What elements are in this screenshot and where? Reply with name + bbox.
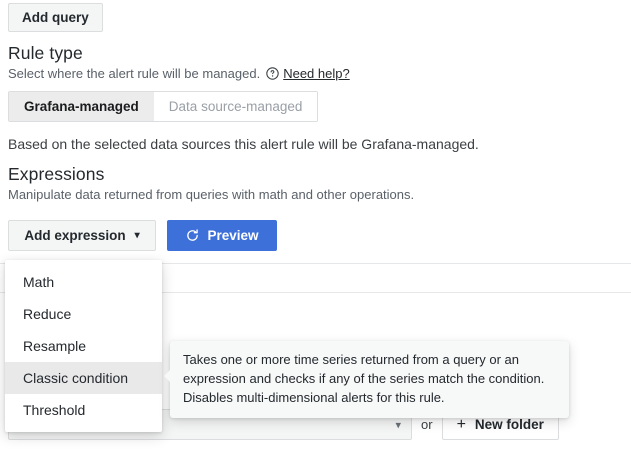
question-circle-icon (266, 67, 279, 80)
new-folder-label: New folder (475, 417, 544, 432)
menu-item-resample[interactable]: Resample (5, 330, 162, 362)
add-query-button[interactable]: Add query (8, 3, 103, 32)
rule-type-heading: Rule type (8, 43, 83, 64)
preview-label: Preview (207, 228, 258, 243)
need-help-link[interactable]: Need help? (266, 66, 350, 81)
rule-type-option-grafana-managed-label: Grafana-managed (24, 99, 139, 114)
rule-type-note: Based on the selected data sources this … (8, 136, 479, 152)
expressions-heading: Expressions (8, 164, 104, 185)
rule-type-option-data-source-managed-label: Data source-managed (169, 99, 303, 114)
menu-item-reduce[interactable]: Reduce (5, 298, 162, 330)
add-expression-button[interactable]: Add expression ▾ (8, 220, 156, 251)
tooltip-line-3: Disables multi-dimensional alerts for th… (183, 388, 556, 407)
rule-type-option-grafana-managed[interactable]: Grafana-managed (9, 92, 154, 121)
tooltip-arrow (164, 369, 171, 383)
add-expression-label: Add expression (24, 228, 125, 243)
menu-item-classic-condition-label: Classic condition (23, 370, 128, 386)
tooltip-line-1: Takes one or more time series returned f… (183, 350, 556, 369)
rule-type-option-data-source-managed[interactable]: Data source-managed (154, 92, 318, 121)
preview-button[interactable]: Preview (167, 220, 277, 251)
sync-refresh-icon (185, 228, 200, 243)
add-expression-menu[interactable]: Math Reduce Resample Classic condition T… (5, 260, 162, 432)
menu-item-threshold-label: Threshold (23, 402, 85, 418)
rule-type-toggle-group[interactable]: Grafana-managed Data source-managed (8, 91, 318, 122)
menu-item-math-label: Math (23, 274, 54, 290)
tooltip-line-2: expression and checks if any of the seri… (183, 369, 556, 388)
menu-item-resample-label: Resample (23, 338, 86, 354)
classic-condition-tooltip: Takes one or more time series returned f… (170, 341, 569, 418)
rule-type-subtitle-row: Select where the alert rule will be mana… (8, 66, 350, 81)
menu-item-threshold[interactable]: Threshold (5, 394, 162, 426)
need-help-label: Need help? (283, 66, 350, 81)
rule-type-subtitle: Select where the alert rule will be mana… (8, 66, 260, 81)
chevron-down-icon: ▾ (135, 231, 140, 241)
chevron-down-icon[interactable]: ▾ (395, 418, 401, 431)
alert-rule-form-page: Add query Rule type Select where the ale… (0, 0, 631, 451)
menu-item-math[interactable]: Math (5, 266, 162, 298)
menu-item-classic-condition[interactable]: Classic condition (5, 362, 162, 394)
add-query-label: Add query (22, 10, 89, 25)
expressions-subtitle: Manipulate data returned from queries wi… (8, 187, 414, 202)
plus-icon: + (457, 417, 466, 433)
menu-item-reduce-label: Reduce (23, 306, 71, 322)
or-label: or (421, 417, 433, 432)
